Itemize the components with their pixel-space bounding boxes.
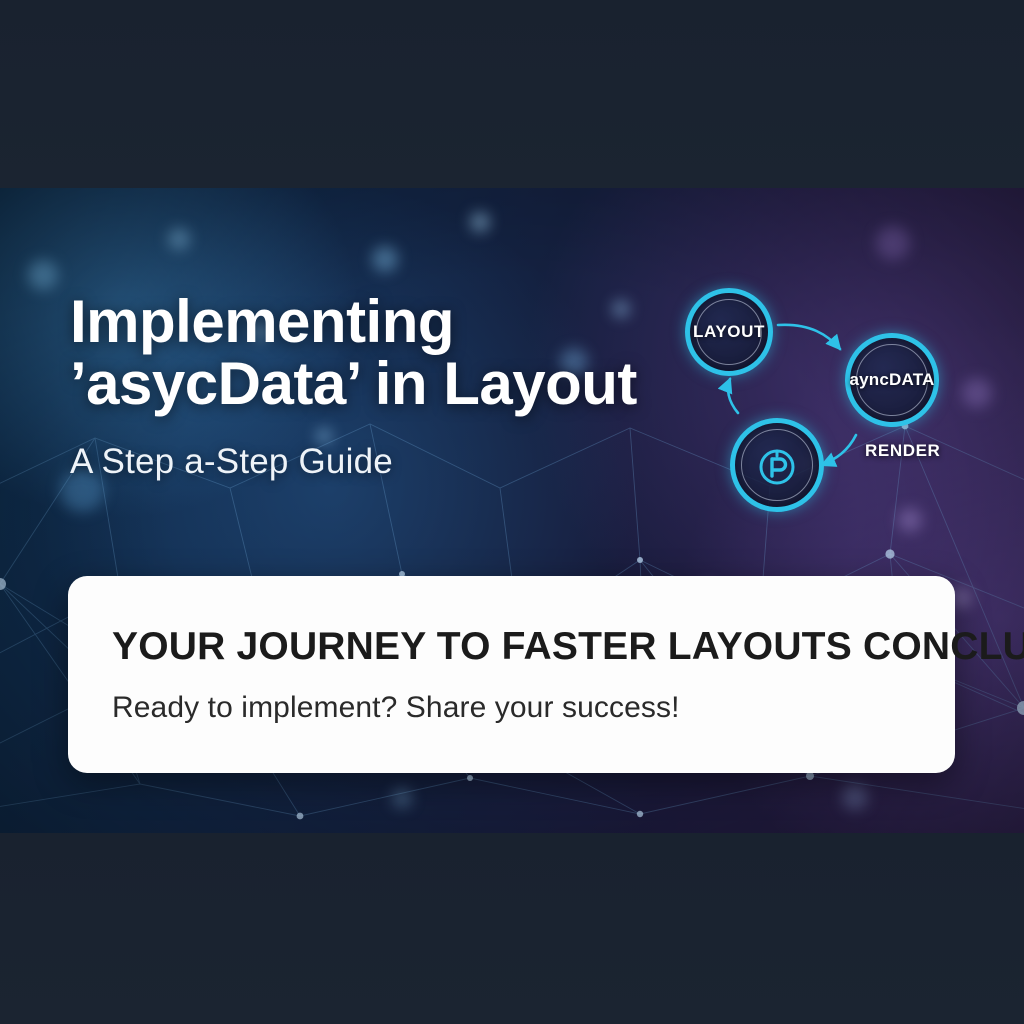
cta-title: YOUR JOURNEY TO FASTER LAYOUTS CONCLUDES… bbox=[112, 625, 1024, 669]
page-title: Implementing ’asycData’ in Layout bbox=[70, 291, 690, 416]
cta-subtitle: Ready to implement? Share your success! bbox=[112, 691, 1024, 725]
arrow-asyncdata-to-process bbox=[822, 435, 856, 465]
diagram-node-layout-label: LAYOUT bbox=[693, 322, 765, 342]
hero-text-block: Implementing ’asycData’ in Layout A Step… bbox=[70, 291, 690, 482]
letterbox-band-bottom bbox=[0, 833, 1024, 1024]
letterbox-band-top bbox=[0, 0, 1024, 188]
arrow-layout-to-asyncdata bbox=[778, 325, 840, 349]
lifecycle-diagram: LAYOUT ayncDATA RENDER bbox=[660, 283, 990, 533]
cta-card: YOUR JOURNEY TO FASTER LAYOUTS CONCLUDES… bbox=[68, 576, 955, 773]
diagram-node-asyncdata[interactable]: ayncDATA bbox=[845, 333, 939, 427]
cta-text-block: YOUR JOURNEY TO FASTER LAYOUTS CONCLUDES… bbox=[112, 625, 1024, 725]
diagram-node-asyncdata-label: ayncDATA bbox=[849, 370, 934, 390]
process-p-icon bbox=[754, 442, 800, 488]
arrow-process-to-layout bbox=[728, 379, 738, 413]
diagram-node-process[interactable] bbox=[730, 418, 824, 512]
diagram-node-layout[interactable]: LAYOUT bbox=[685, 288, 773, 376]
poster-root: Implementing ’asycData’ in Layout A Step… bbox=[0, 0, 1024, 1024]
page-subtitle: A Step a-Step Guide bbox=[70, 442, 690, 482]
diagram-render-label: RENDER bbox=[865, 441, 940, 461]
